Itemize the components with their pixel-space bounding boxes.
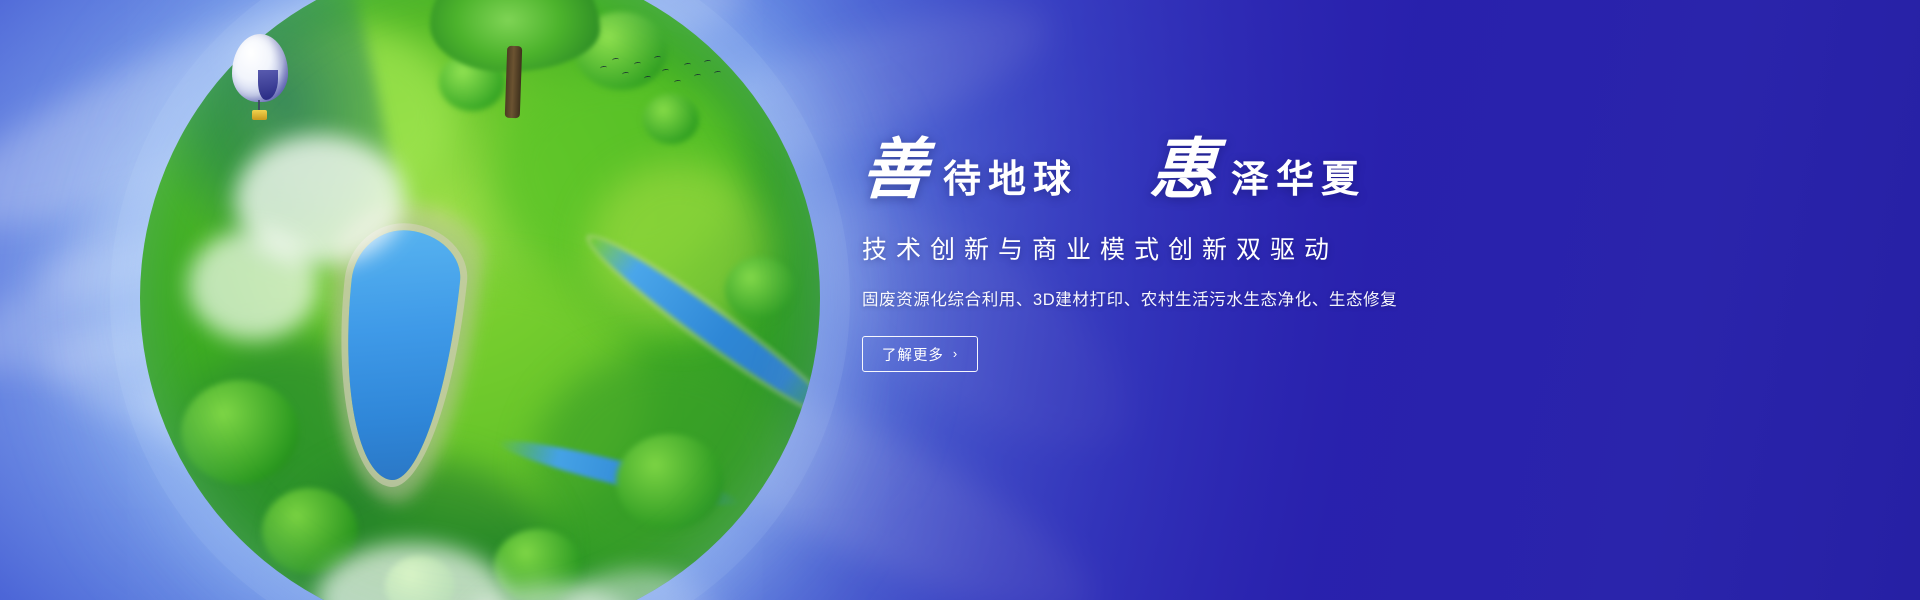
- tree-canopy: [181, 380, 299, 484]
- surface-cloud: [188, 230, 318, 340]
- tree-canopy: [643, 94, 699, 144]
- hero-subtitle: 技术创新与商业模式创新双驱动: [862, 230, 1562, 266]
- hot-air-balloon-icon: [232, 34, 288, 120]
- bird-icon: [644, 76, 651, 81]
- hero-copy-block: 善 待地球 惠 泽华夏 技术创新与商业模式创新双驱动 固废资源化综合利用、3D建…: [862, 138, 1562, 372]
- bird-icon: [634, 62, 641, 67]
- bird-icon: [662, 69, 669, 74]
- bird-icon: [694, 74, 701, 79]
- hero-tree-icon: [430, 0, 600, 104]
- hero-description: 固废资源化综合利用、3D建材打印、农村生活污水生态净化、生态修复: [862, 286, 1562, 310]
- headline-char-1: 善: [860, 138, 930, 204]
- bird-icon: [714, 71, 721, 76]
- bird-icon: [600, 66, 607, 71]
- chevron-right-icon: ›: [953, 347, 958, 360]
- tree-canopy: [616, 434, 724, 530]
- headline-char-2: 惠: [1148, 138, 1218, 204]
- balloon-basket: [252, 110, 267, 120]
- bird-icon: [704, 60, 711, 65]
- headline-rest-2: 泽华夏: [1231, 161, 1366, 204]
- bird-icon: [612, 58, 619, 63]
- bird-icon: [684, 63, 691, 68]
- learn-more-label: 了解更多: [882, 344, 944, 365]
- bird-icon: [674, 80, 681, 85]
- learn-more-button[interactable]: 了解更多 ›: [862, 336, 978, 372]
- bird-icon: [622, 72, 629, 77]
- tree-trunk: [505, 46, 523, 118]
- bird-icon: [654, 56, 661, 61]
- hero-banner: 善 待地球 惠 泽华夏 技术创新与商业模式创新双驱动 固废资源化综合利用、3D建…: [0, 0, 1920, 600]
- bird-flock-icon: [596, 52, 726, 98]
- tree-canopy: [725, 257, 795, 321]
- headline-rest-1: 待地球: [943, 161, 1078, 204]
- hero-headline: 善 待地球 惠 泽华夏: [862, 138, 1562, 204]
